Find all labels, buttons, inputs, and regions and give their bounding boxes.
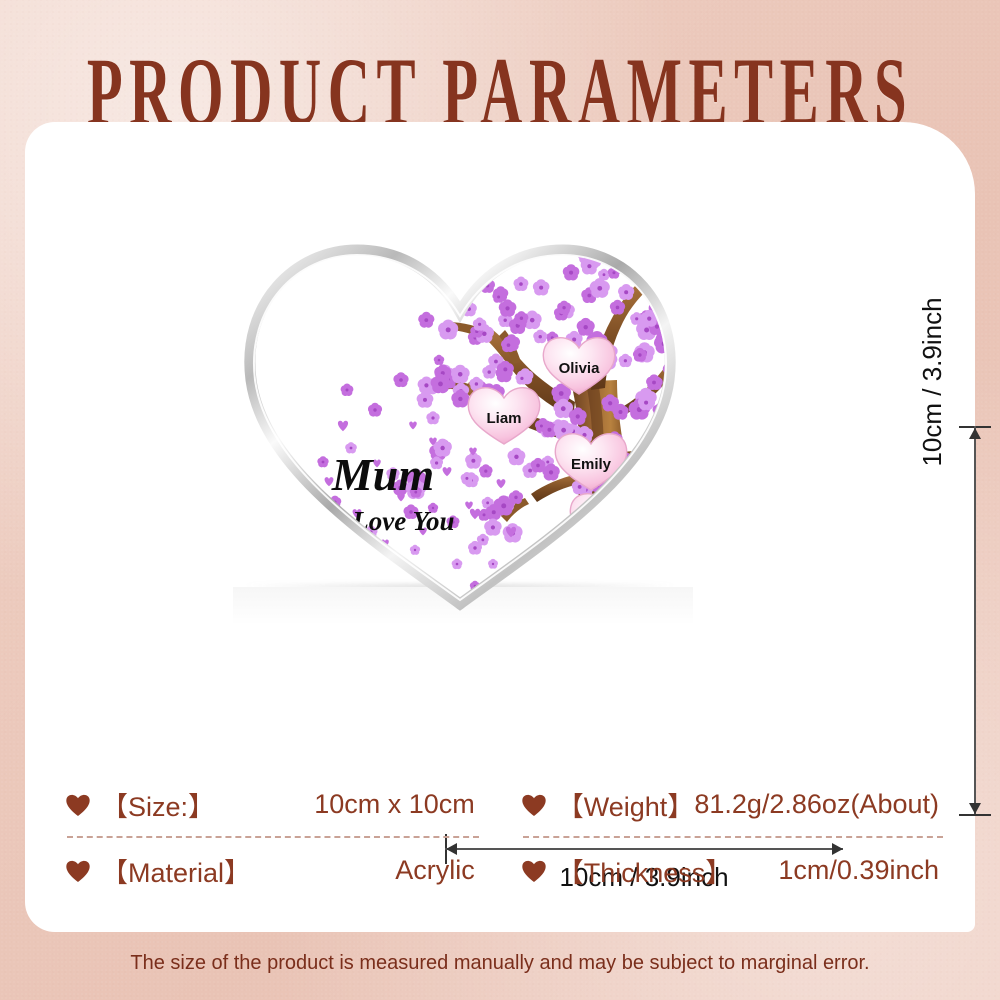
name-heart-label-3: Emma [583,516,629,533]
dimension-label-height: 10cm / 3.9inch [917,262,948,502]
heart-icon [65,859,91,883]
plaque-main-text: Mum [331,449,434,500]
blossom-icon [668,405,689,425]
name-heart-group-emma: Emma [570,494,642,550]
spec-row-size: 【Size:】 10cm x 10cm [65,772,481,836]
name-heart-label-1: Olivia [559,360,601,377]
dimension-cap-bottom [959,814,991,816]
blossom-icon [350,558,363,571]
spec-row-material: 【Material】 Acrylic [65,838,481,902]
heart-icon [521,793,547,817]
content-card: Liam Olivia Emily Emma [25,122,975,932]
footer-note: The size of the product is measured manu… [0,952,1000,975]
product-illustration: Liam Olivia Emily Emma [205,202,725,772]
spec-row-weight: 【Weight】 81.2g/2.86oz(About) [521,772,945,836]
specs-column-right: 【Weight】 81.2g/2.86oz(About) 【Thickness】… [521,772,945,902]
spec-row-thickness: 【Thickness】 1cm/0.39inch [521,838,945,902]
blossom-icon [649,255,672,277]
spec-value-weight: 81.2g/2.86oz(About) [694,789,945,820]
spec-key-weight: 【Weight】 [557,785,695,824]
spec-value-thickness: 1cm/0.39inch [778,855,945,886]
blossom-icon [321,523,336,537]
specs-column-left: 【Size:】 10cm x 10cm 【Material】 Acrylic [65,772,481,902]
spec-value-size: 10cm x 10cm [314,789,481,820]
blossom-icon [662,442,685,463]
blossom-icon [636,483,659,505]
blossom-icon [611,504,630,522]
spec-key-material: 【Material】 [101,851,251,890]
specs-table: 【Size:】 10cm x 10cm 【Material】 Acrylic 【… [65,772,945,902]
blossom-icon [669,394,685,410]
name-heart-label-2: Emily [571,456,612,473]
dimension-line-vertical [974,426,976,816]
name-heart-label-0: Liam [486,410,521,427]
blossom-icon [377,573,393,588]
heart-icon [65,793,91,817]
dimension-arrow-down [969,803,981,814]
spec-value-material: Acrylic [395,855,481,886]
blossom-icon [640,464,656,480]
blossom-icon [636,458,659,480]
blossom-icon [416,591,427,602]
blossom-icon [630,490,654,512]
spec-key-size: 【Size:】 [101,785,215,824]
blossom-icon [635,487,653,504]
spec-key-thickness: 【Thickness】 [557,851,733,890]
heart-icon [521,859,547,883]
dimension-arrow-up [969,428,981,439]
acrylic-heart-plaque: Liam Olivia Emily Emma [225,212,695,612]
